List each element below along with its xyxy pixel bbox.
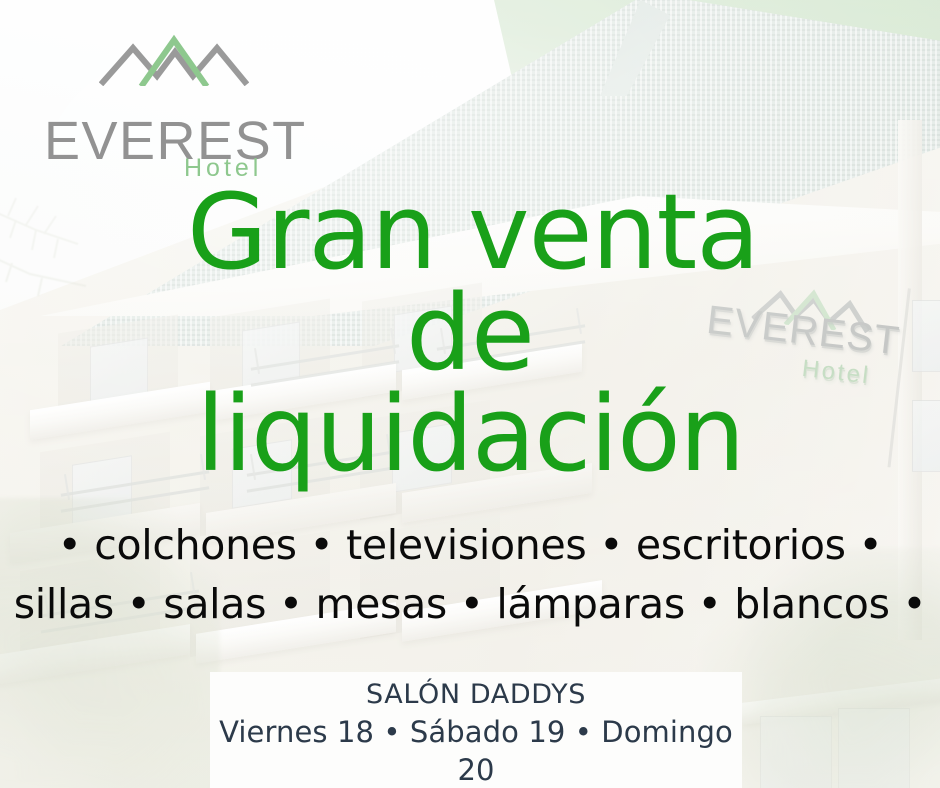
event-dates: Viernes 18 • Sábado 19 • Domingo 20 — [210, 713, 742, 788]
headline-line-2: de — [0, 283, 940, 384]
headline: Gran venta de liquidación — [0, 182, 940, 485]
product-list-line-1: • colchones • televisiones • escritorios… — [0, 516, 940, 575]
promo-poster: EVEREST Hotel — [0, 0, 940, 788]
product-list: • colchones • televisiones • escritorios… — [0, 516, 940, 633]
logo-brand-name: EVEREST — [44, 114, 307, 168]
mountain-peaks-icon — [99, 32, 249, 86]
headline-line-1: Gran venta — [0, 182, 940, 283]
everest-hotel-logo: EVEREST Hotel — [44, 28, 294, 178]
headline-line-3: liquidación — [0, 384, 940, 485]
product-list-line-2: sillas • salas • mesas • lámparas • blan… — [0, 575, 940, 634]
event-info-panel: SALÓN DADDYS Viernes 18 • Sábado 19 • Do… — [210, 672, 742, 788]
event-venue: SALÓN DADDYS — [210, 678, 742, 713]
